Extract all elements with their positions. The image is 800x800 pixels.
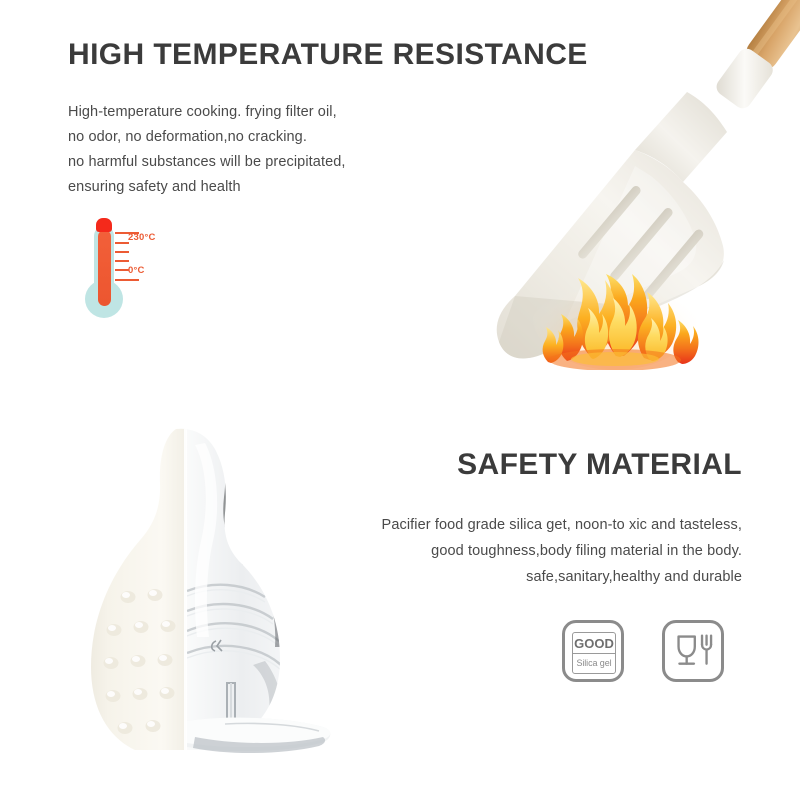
section-two-title: SAFETY MATERIAL bbox=[457, 448, 742, 482]
good-silica-gel-top-text: GOOD bbox=[573, 633, 615, 654]
thermometer-cap bbox=[96, 218, 112, 232]
thermometer-icon bbox=[72, 218, 182, 328]
section-one-body-line-4: ensuring safety and health bbox=[68, 175, 346, 200]
good-silica-gel-inner: GOOD Silica gel bbox=[572, 632, 616, 674]
section-two-body: Pacifier food grade silica get, noon-to … bbox=[382, 512, 742, 590]
thermometer-high-label: 230°C bbox=[128, 232, 156, 243]
pacifier-nipple-image bbox=[75, 415, 385, 795]
flame-graphic bbox=[520, 180, 710, 370]
thermometer-mercury bbox=[98, 230, 111, 306]
section-one-body-line-3: no harmful substances will be precipitat… bbox=[68, 150, 346, 175]
food-safe-badge bbox=[662, 620, 724, 682]
section-two-body-line-3: safe,sanitary,healthy and durable bbox=[382, 564, 742, 590]
section-two-body-line-2: good toughness,body filing material in t… bbox=[382, 538, 742, 564]
section-one-body-line-1: High-temperature cooking. frying filter … bbox=[68, 100, 346, 125]
product-infographic: HIGH TEMPERATURE RESISTANCE High-tempera… bbox=[0, 0, 800, 800]
section-one-body: High-temperature cooking. frying filter … bbox=[68, 100, 346, 200]
section-one-body-line-2: no odor, no deformation,no cracking. bbox=[68, 125, 346, 150]
good-silica-gel-bottom-text: Silica gel bbox=[573, 654, 615, 673]
thermometer-low-label: 0°C bbox=[128, 265, 145, 276]
good-silica-gel-badge: GOOD Silica gel bbox=[562, 620, 624, 682]
section-one-title: HIGH TEMPERATURE RESISTANCE bbox=[68, 38, 588, 72]
certification-badges: GOOD Silica gel bbox=[562, 620, 737, 690]
pacifier-dimples bbox=[104, 589, 176, 734]
glass-and-fork-icon bbox=[665, 623, 721, 679]
section-two-body-line-1: Pacifier food grade silica get, noon-to … bbox=[382, 512, 742, 538]
